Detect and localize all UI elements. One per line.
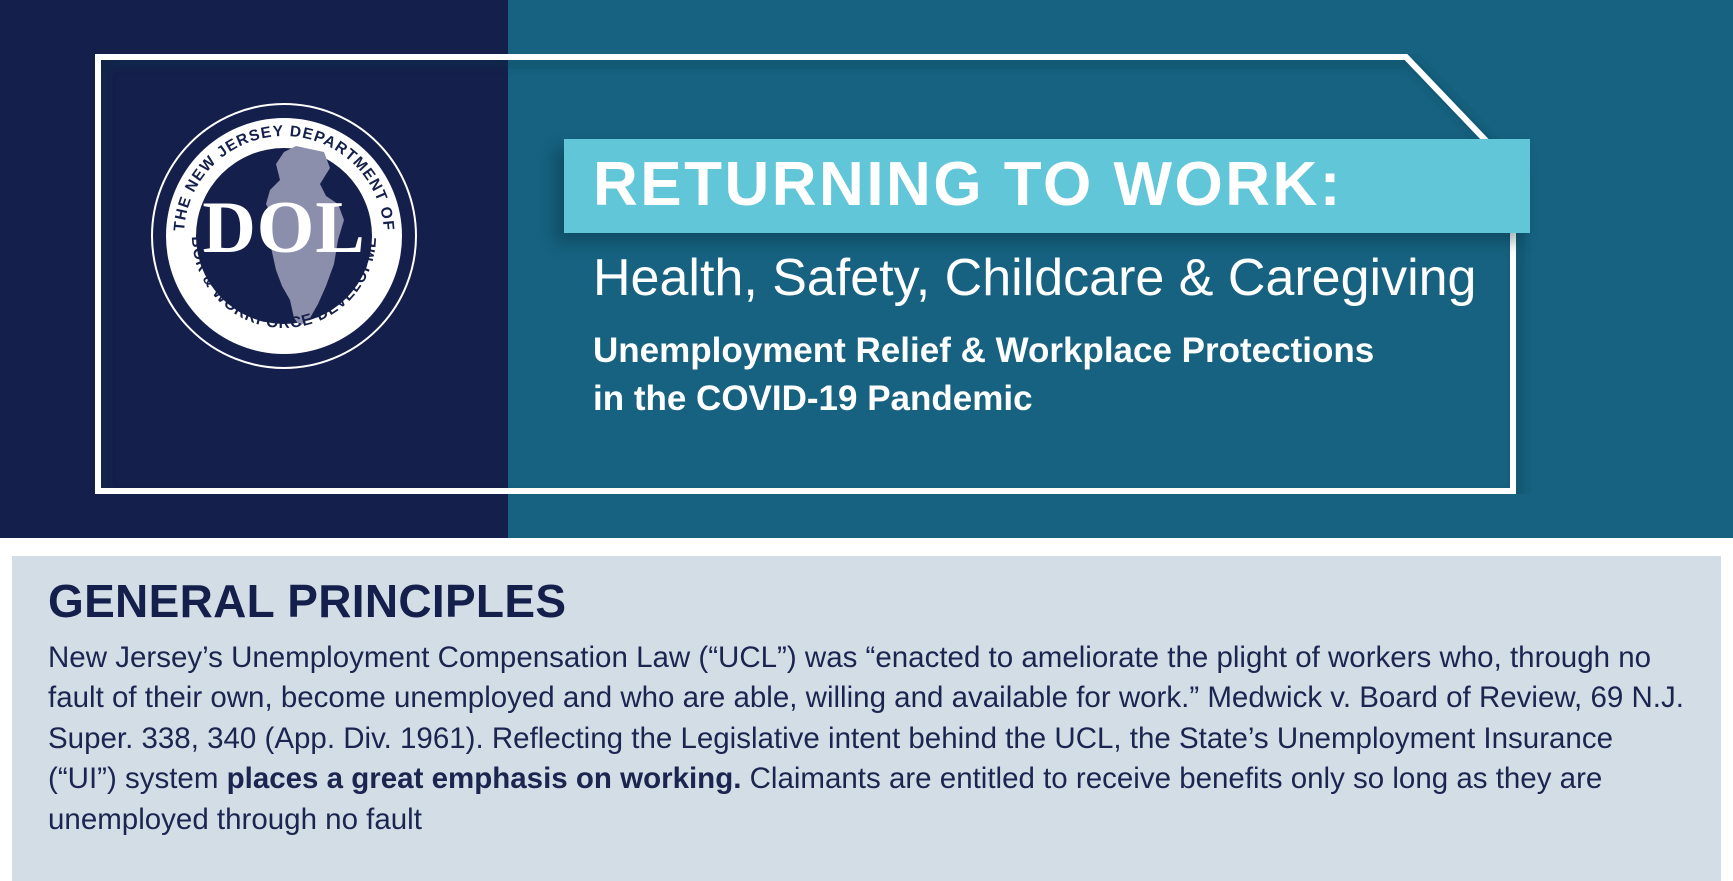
document-header-banner: DOL THE NEW JERSEY DEPARTMENT OF LABOR &… (0, 0, 1733, 538)
nj-dol-seal: DOL THE NEW JERSEY DEPARTMENT OF LABOR &… (148, 100, 420, 372)
paragraph-emphasis: places a great emphasis on working. (227, 762, 742, 795)
document-kicker: Unemployment Relief & Workplace Protecti… (593, 327, 1573, 424)
section-heading: GENERAL PRINCIPLES (48, 578, 1685, 624)
title-banner: RETURNING TO WORK: (564, 139, 1530, 233)
kicker-line-2: in the COVID-19 Pandemic (593, 375, 1573, 423)
kicker-line-1: Unemployment Relief & Workplace Protecti… (593, 327, 1573, 375)
general-principles-panel: GENERAL PRINCIPLES New Jersey’s Unemploy… (12, 556, 1721, 881)
document-subtitle: Health, Safety, Childcare & Caregiving (593, 250, 1476, 307)
document-title: RETURNING TO WORK: (593, 154, 1343, 216)
section-paragraph: New Jersey’s Unemployment Compensation L… (48, 638, 1685, 840)
seal-monogram: DOL (202, 187, 365, 269)
